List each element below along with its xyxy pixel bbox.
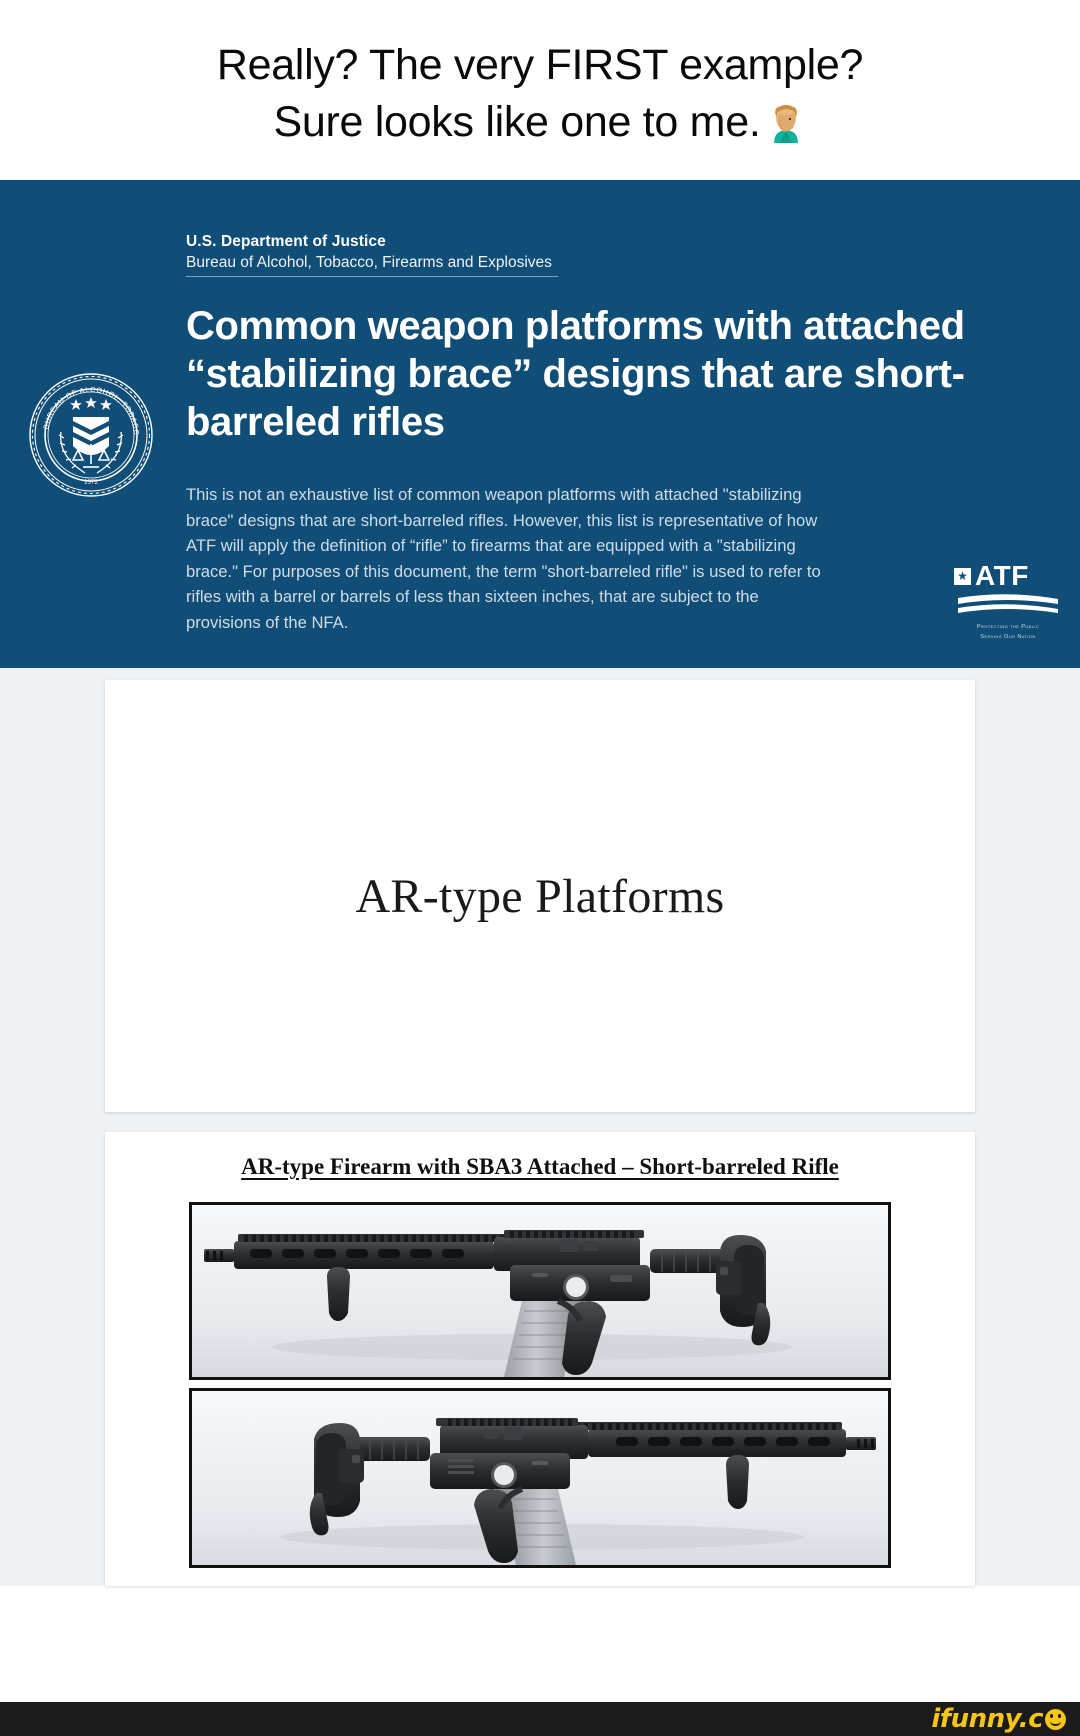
atf-tagline-line-2: Serving Our Nation (954, 633, 1062, 641)
atf-tagline-line-1: Protecting the Public (954, 623, 1062, 631)
slide-1-title: AR-type Platforms (355, 869, 724, 924)
atf-logo: ★ ATF Protecting the Public Serving Our … (954, 562, 1062, 641)
atf-logo-wordmark: ★ ATF (954, 562, 1062, 590)
svg-text:1972: 1972 (84, 478, 99, 486)
caption-line-2-row: Sure looks like one to me. (274, 94, 807, 151)
document-intro-paragraph: This is not an exhaustive list of common… (186, 482, 826, 635)
meme-page: Really? The very FIRST example? Sure loo… (0, 0, 1080, 1736)
rifle-photo-left-facing (189, 1388, 891, 1568)
slides-region: AR-type Platforms AR-type Firearm with S… (0, 668, 1080, 1586)
ifunny-footer-bar: ifunny.c (0, 1702, 1080, 1736)
slide-sba3-short-barreled-rifle: AR-type Firearm with SBA3 Attached – Sho… (105, 1132, 975, 1586)
smiley-face-icon (1045, 1709, 1066, 1730)
caption-line-1: Really? The very FIRST example? (217, 37, 863, 94)
rifle-photo-right-facing (189, 1202, 891, 1380)
atf-header-banner: 1972 BUREAU OF ALCOHOL, TOBACCO, FIREARM… (0, 180, 1080, 668)
atf-logo-text: ATF (975, 562, 1029, 590)
star-icon: ★ (954, 568, 971, 585)
agency-bureau: Bureau of Alcohol, Tobacco, Firearms and… (186, 252, 558, 277)
slide-ar-type-platforms: AR-type Platforms (105, 680, 975, 1112)
ifunny-watermark: ifunny.c (931, 1704, 1066, 1734)
meme-caption: Really? The very FIRST example? Sure loo… (0, 0, 1080, 180)
agency-department: U.S. Department of Justice (186, 232, 746, 252)
facepalm-emoji (766, 103, 806, 143)
document-title: Common weapon platforms with attached “s… (186, 302, 986, 446)
atf-seal-icon: 1972 BUREAU OF ALCOHOL, TOBACCO, FIREARM… (28, 372, 154, 498)
swoosh-icon (956, 592, 1060, 616)
agency-identity: U.S. Department of Justice Bureau of Alc… (186, 232, 746, 277)
ifunny-watermark-text: ifunny.c (931, 1704, 1043, 1734)
caption-line-2: Sure looks like one to me. (274, 94, 761, 151)
slide-2-title: AR-type Firearm with SBA3 Attached – Sho… (105, 1154, 975, 1180)
